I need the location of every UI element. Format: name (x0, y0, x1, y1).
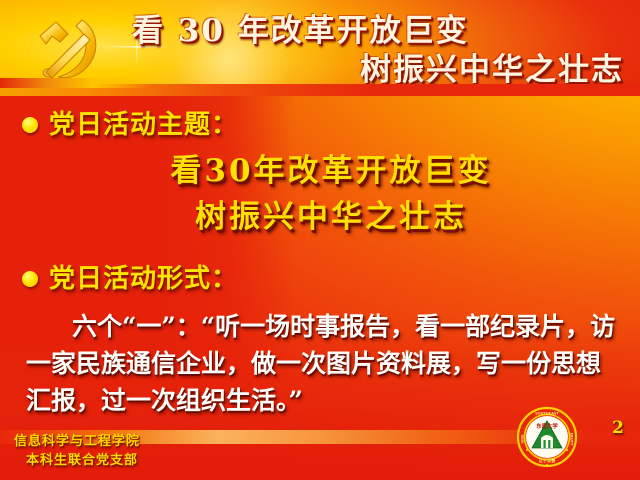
bullet-label-theme: 党日活动主题： (49, 108, 238, 142)
slide-header-banner: 看 30 年改革开放巨变 树振兴中华之壮志 (0, 0, 640, 96)
activity-theme-block: 看30年改革开放巨变 树振兴中华之壮志 (0, 148, 640, 240)
bullet-dot-icon (22, 117, 38, 133)
footer-org-line1: 信息科学与工程学院 (14, 434, 140, 449)
bullet-item-theme: 党日活动主题： (22, 108, 238, 142)
svg-text:SOUTHEAST: SOUTHEAST (535, 412, 559, 416)
page-number: 2 (612, 418, 624, 438)
southeast-university-seal-icon: 东南大学 止于至善 SOUTHEAST UNIV ERSITY (516, 406, 578, 468)
svg-text:止于至善: 止于至善 (539, 457, 557, 464)
activity-theme-line1: 看30年改革开放巨变 (0, 148, 640, 194)
hammer-and-sickle-icon (26, 14, 114, 84)
header-title: 看 30 年改革开放巨变 树振兴中华之壮志 (132, 12, 632, 90)
svg-text:UNIV: UNIV (521, 434, 525, 443)
svg-text:ERSITY: ERSITY (570, 433, 574, 446)
activity-format-paragraph: 六个“一”：“听一场时事报告，看一部纪录片，访一家民族通信企业，做一次图片资料展… (26, 308, 616, 419)
slide-body: 党日活动主题： 看30年改革开放巨变 树振兴中华之壮志 党日活动形式： 六个“一… (0, 96, 640, 426)
header-title-line1: 看 30 年改革开放巨变 (132, 12, 632, 51)
footer-organization: 信息科学与工程学院 本科生联合党支部 (14, 432, 140, 470)
bullet-dot-icon (22, 271, 38, 287)
header-gold-strip (0, 78, 150, 88)
footer-org-line2: 本科生联合党支部 (14, 451, 140, 470)
presentation-slide: 看 30 年改革开放巨变 树振兴中华之壮志 党日活动主题： 看30年改革开放巨变… (0, 0, 640, 480)
svg-text:东南大学: 东南大学 (536, 422, 558, 430)
activity-theme-line2: 树振兴中华之壮志 (0, 194, 640, 240)
bullet-label-format: 党日活动形式： (49, 262, 238, 296)
bullet-item-format: 党日活动形式： (22, 262, 238, 296)
